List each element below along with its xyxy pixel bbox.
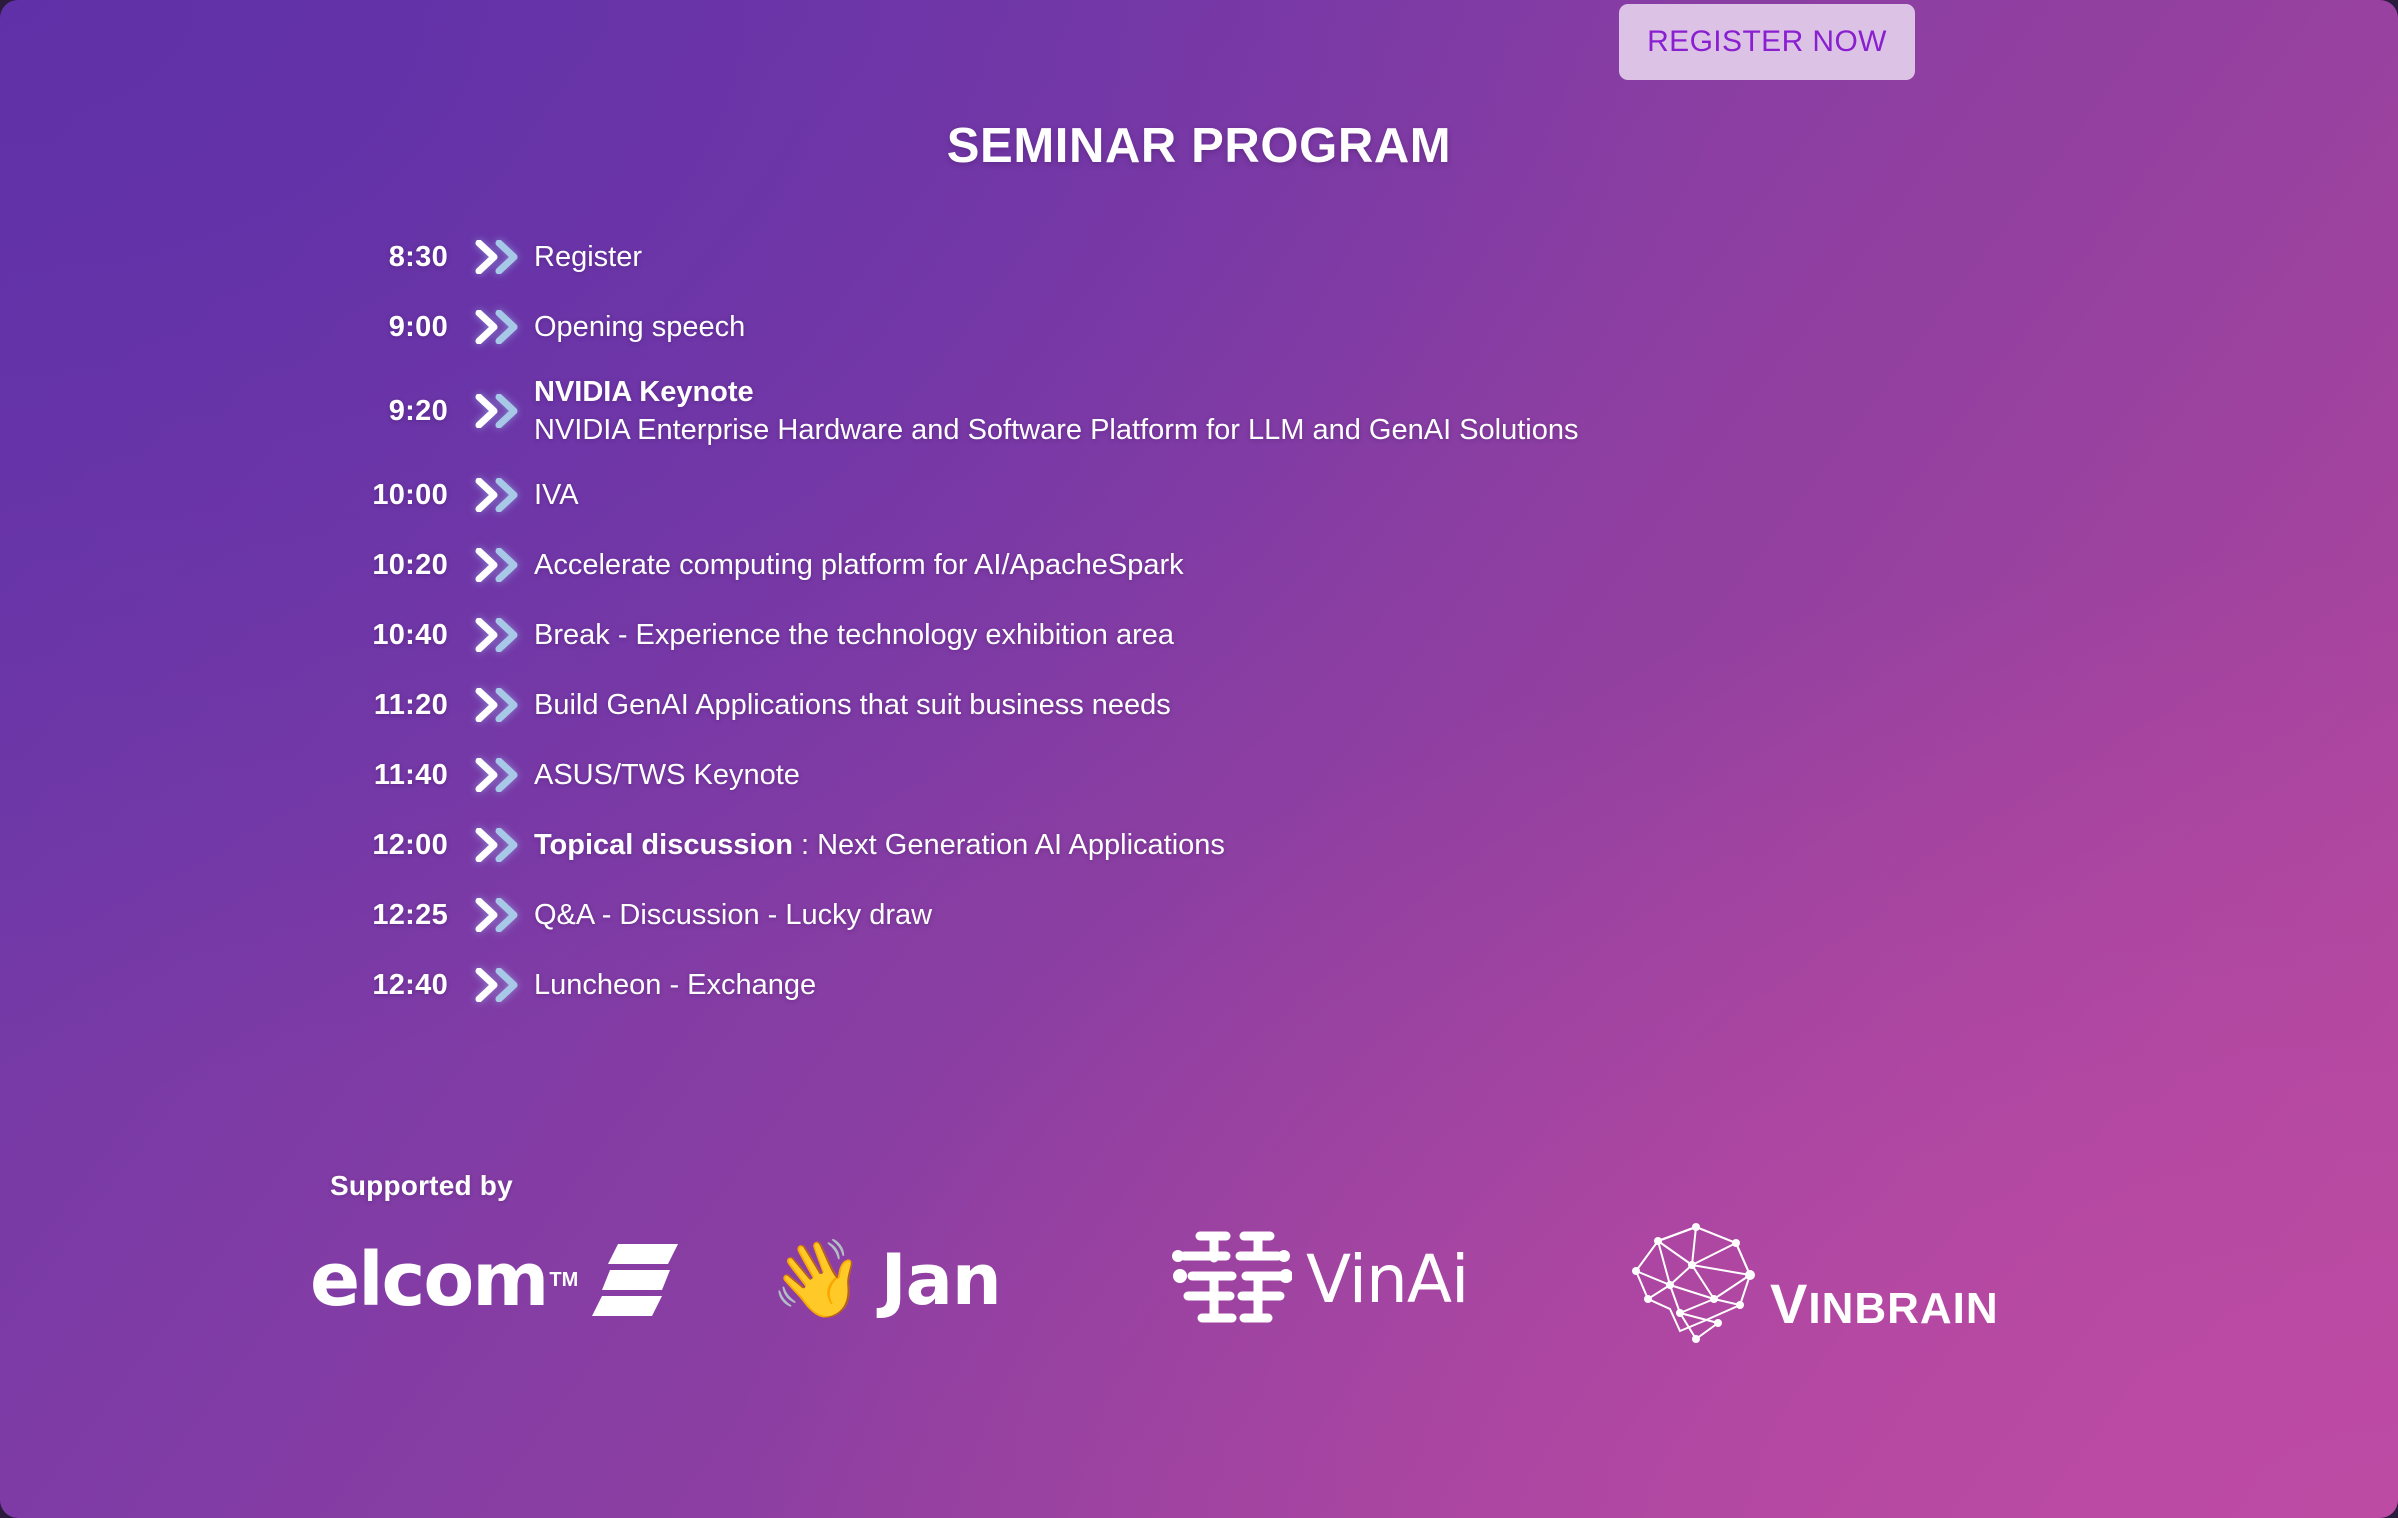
schedule-description: Build GenAI Applications that suit busin… [534,686,1171,724]
waving-hand-icon: 👋 [770,1242,865,1318]
vinbrain-wordmark-rest: INBRAIN [1808,1284,1998,1333]
schedule-description: Opening speech [534,308,745,346]
schedule-description-title: Build GenAI Applications that suit busin… [534,689,1171,721]
schedule-description: Q&A - Discussion - Lucky draw [534,896,932,934]
schedule-row: 12:25Q&A - Discussion - Lucky draw [330,880,2050,950]
schedule-time: 10:40 [330,619,448,652]
schedule-row: 10:00IVA [330,460,2050,530]
double-chevron-right-icon [448,758,534,792]
schedule-row: 10:40Break - Experience the technology e… [330,600,2050,670]
sponsor-logo-elcom: elcom TM [300,1220,730,1340]
schedule-description-title: Luncheon - Exchange [534,969,816,1001]
schedule-row: 9:00Opening speech [330,292,2050,362]
schedule-row: 8:30Register [330,222,2050,292]
seminar-schedule-list: 8:30Register9:00Opening speech9:20NVIDIA… [330,222,2050,1020]
schedule-time: 10:20 [330,549,448,582]
vinbrain-wordmark: VINBRAIN [1770,1276,1999,1332]
double-chevron-right-icon [448,898,534,932]
sponsor-logo-jan: 👋 Jan [730,1220,1150,1340]
double-chevron-right-icon [448,618,534,652]
sponsor-logo-vinai: VinAi [1150,1220,1600,1340]
schedule-description: IVA [534,476,579,514]
schedule-row: 11:40ASUS/TWS Keynote [330,740,2050,810]
schedule-time: 11:40 [330,759,448,792]
schedule-description-title: IVA [534,479,579,511]
schedule-row: 12:40Luncheon - Exchange [330,950,2050,1020]
schedule-description-lead: NVIDIA Keynote [534,376,754,408]
schedule-time: 12:25 [330,899,448,932]
vinai-wordmark: VinAi [1306,1247,1468,1313]
schedule-description-title: ASUS/TWS Keynote [534,759,800,791]
schedule-description-title: Register [534,241,642,273]
schedule-row: 11:20Build GenAI Applications that suit … [330,670,2050,740]
elcom-wordmark: elcom [310,1243,547,1317]
schedule-row: 10:20Accelerate computing platform for A… [330,530,2050,600]
page-title: SEMINAR PROGRAM [0,118,2398,174]
double-chevron-right-icon [448,394,534,428]
register-now-button[interactable]: REGISTER NOW [1619,4,1915,80]
schedule-time: 12:00 [330,829,448,862]
brain-network-icon [1618,1213,1788,1348]
schedule-description-title: Opening speech [534,311,745,343]
schedule-row: 12:00Topical discussion : Next Generatio… [330,810,2050,880]
supported-by-label: Supported by [330,1170,513,1202]
schedule-description-lead: Topical discussion [534,829,793,861]
vinai-network-mark-icon [1170,1224,1292,1337]
schedule-row: 9:20NVIDIA KeynoteNVIDIA Enterprise Hard… [330,362,2050,460]
double-chevron-right-icon [448,240,534,274]
trademark-icon: TM [549,1269,578,1292]
schedule-time: 11:20 [330,689,448,722]
schedule-description-subtitle: NVIDIA Enterprise Hardware and Software … [534,411,1579,449]
schedule-description: Break - Experience the technology exhibi… [534,616,1174,654]
schedule-description-title: Accelerate computing platform for AI/Apa… [534,549,1184,581]
schedule-description: NVIDIA KeynoteNVIDIA Enterprise Hardware… [534,373,1579,450]
schedule-description-title: Break - Experience the technology exhibi… [534,619,1174,651]
double-chevron-right-icon [448,688,534,722]
double-chevron-right-icon [448,548,534,582]
double-chevron-right-icon [448,968,534,1002]
elcom-e-mark-icon [592,1240,678,1321]
schedule-description: ASUS/TWS Keynote [534,756,800,794]
schedule-time: 8:30 [330,241,448,274]
schedule-time: 9:00 [330,311,448,344]
double-chevron-right-icon [448,828,534,862]
double-chevron-right-icon [448,310,534,344]
seminar-program-slide: REGISTER NOW SEMINAR PROGRAM 8:30Registe… [0,0,2398,1518]
sponsor-logo-vinbrain: VINBRAIN [1600,1220,2070,1340]
vinbrain-wordmark-cap: V [1770,1272,1808,1335]
schedule-description-title: Q&A - Discussion - Lucky draw [534,899,932,931]
sponsor-logos: elcom TM 👋 Jan [300,1215,2110,1345]
jan-wordmark: Jan [881,1245,1001,1315]
schedule-description: Register [534,238,642,276]
schedule-description: Accelerate computing platform for AI/Apa… [534,546,1184,584]
schedule-description: Topical discussion : Next Generation AI … [534,826,1225,864]
schedule-description-title: : Next Generation AI Applications [793,829,1225,861]
schedule-time: 12:40 [330,969,448,1002]
schedule-description: Luncheon - Exchange [534,966,816,1004]
schedule-time: 9:20 [330,395,448,428]
schedule-time: 10:00 [330,479,448,512]
double-chevron-right-icon [448,478,534,512]
